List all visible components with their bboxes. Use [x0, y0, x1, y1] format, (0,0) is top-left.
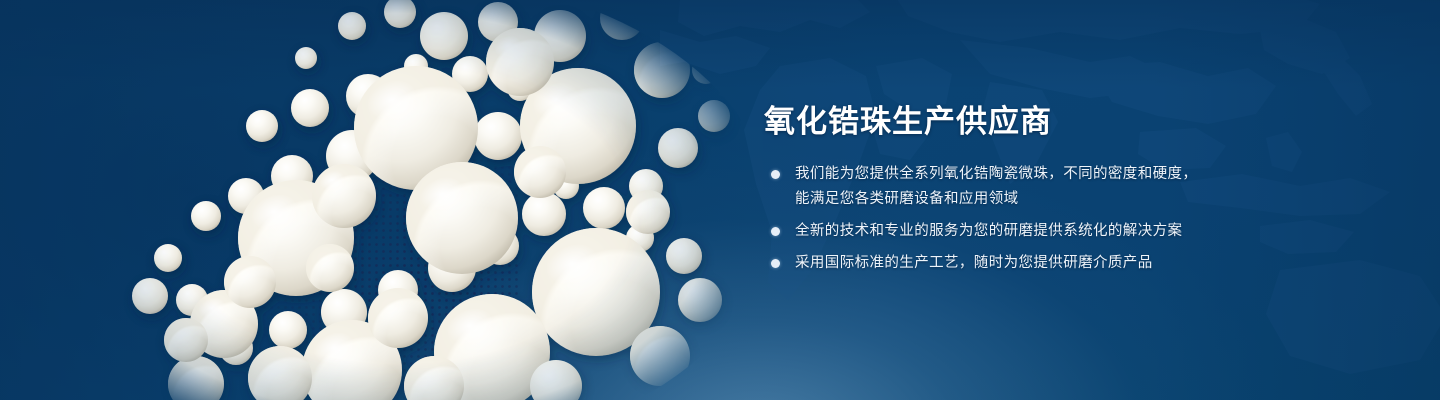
bullet-dot-icon [771, 259, 780, 268]
bullet-item: 全新的技术和专业的服务为您的研磨提供系统化的解决方案 [764, 219, 1384, 244]
bullet-item: 我们能为您提供全系列氧化锆陶瓷微珠，不同的密度和硬度， 能满足您各类研磨设备和应… [764, 162, 1384, 212]
banner-headline: 氧化锆珠生产供应商 [764, 104, 1384, 140]
hero-banner: 氧化锆珠生产供应商 我们能为您提供全系列氧化锆陶瓷微珠，不同的密度和硬度， 能满… [0, 0, 1440, 400]
bullet-dot-icon [771, 227, 780, 236]
bullet-line: 能满足您各类研磨设备和应用领域 [795, 187, 1384, 212]
bullet-line: 采用国际标准的生产工艺，随时为您提供研磨介质产品 [795, 251, 1384, 276]
feature-bullet-list: 我们能为您提供全系列氧化锆陶瓷微珠，不同的密度和硬度， 能满足您各类研磨设备和应… [764, 162, 1384, 276]
bullet-item: 采用国际标准的生产工艺，随时为您提供研磨介质产品 [764, 251, 1384, 276]
bullet-line: 我们能为您提供全系列氧化锆陶瓷微珠，不同的密度和硬度， [795, 162, 1384, 187]
bullet-line: 全新的技术和专业的服务为您的研磨提供系统化的解决方案 [795, 219, 1384, 244]
banner-copy: 氧化锆珠生产供应商 我们能为您提供全系列氧化锆陶瓷微珠，不同的密度和硬度， 能满… [764, 104, 1384, 276]
bullet-dot-icon [771, 170, 780, 179]
